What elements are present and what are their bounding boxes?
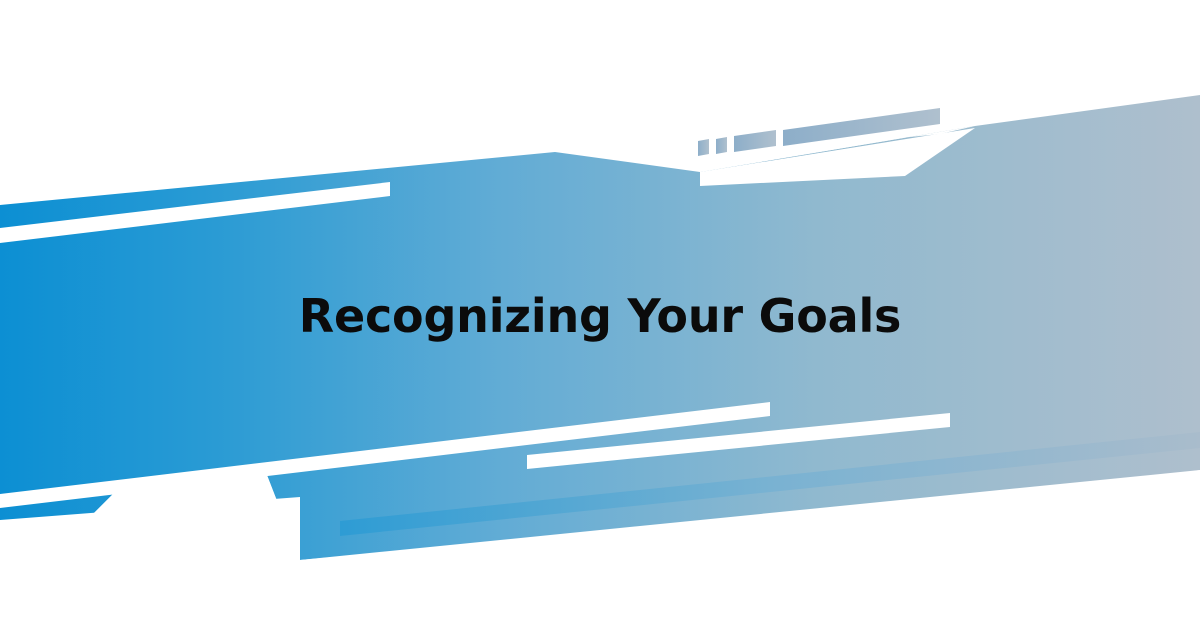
dash-medium	[734, 130, 776, 152]
dash-small-1	[698, 139, 709, 156]
banner-artwork	[0, 0, 1200, 630]
dash-small-2	[716, 137, 727, 154]
banner-graphic: Recognizing Your Goals	[0, 0, 1200, 630]
